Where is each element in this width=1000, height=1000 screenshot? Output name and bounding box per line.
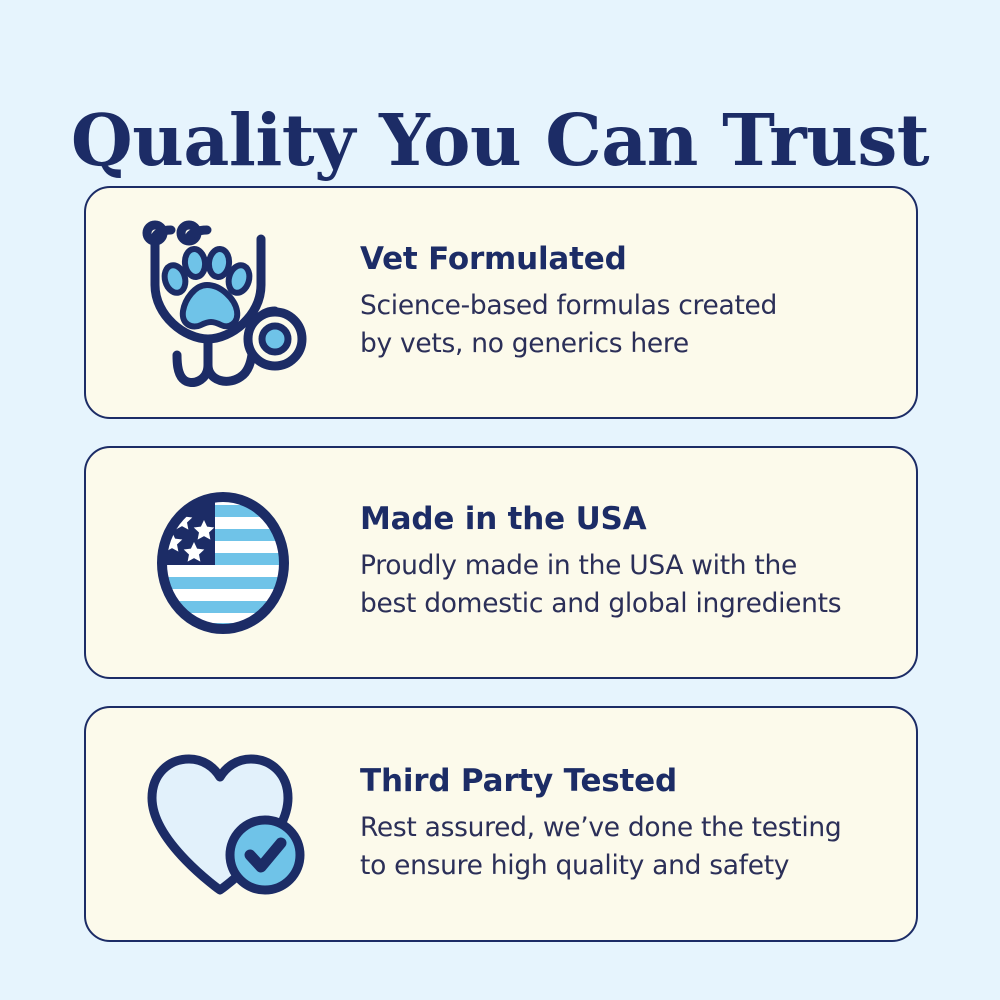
quality-trust-panel: Quality You Can Trust [0, 0, 1000, 1000]
card-body: Proudly made in the USA with the best do… [360, 547, 888, 622]
page-title: Quality You Can Trust [0, 105, 1000, 176]
usa-flag-circle-icon [86, 484, 360, 642]
card-body: Rest assured, we’ve done the testing to … [360, 809, 888, 884]
card-body-line: Rest assured, we’ve done the testing [360, 809, 888, 847]
card-body: Science-based formulas created by vets, … [360, 287, 888, 362]
feature-card-third-party-tested[interactable]: Third Party Tested Rest assured, we’ve d… [84, 706, 918, 942]
feature-card-text: Vet Formulated Science-based formulas cr… [360, 242, 916, 362]
feature-card-made-in-usa[interactable]: Made in the USA Proudly made in the USA … [84, 446, 918, 679]
heart-check-icon [86, 748, 360, 900]
stethoscope-paw-icon [86, 215, 360, 391]
feature-card-text: Made in the USA Proudly made in the USA … [360, 502, 916, 622]
card-body-line: Proudly made in the USA with the [360, 547, 888, 585]
card-body-line: by vets, no generics here [360, 325, 888, 363]
card-body-line: to ensure high quality and safety [360, 847, 888, 885]
card-body-line: best domestic and global ingredients [360, 585, 888, 623]
feature-card-text: Third Party Tested Rest assured, we’ve d… [360, 764, 916, 884]
card-body-line: Science-based formulas created [360, 287, 888, 325]
feature-card-list: Vet Formulated Science-based formulas cr… [84, 186, 918, 942]
card-heading: Vet Formulated [360, 242, 888, 276]
feature-card-vet-formulated[interactable]: Vet Formulated Science-based formulas cr… [84, 186, 918, 419]
card-heading: Made in the USA [360, 502, 888, 536]
card-heading: Third Party Tested [360, 764, 888, 798]
